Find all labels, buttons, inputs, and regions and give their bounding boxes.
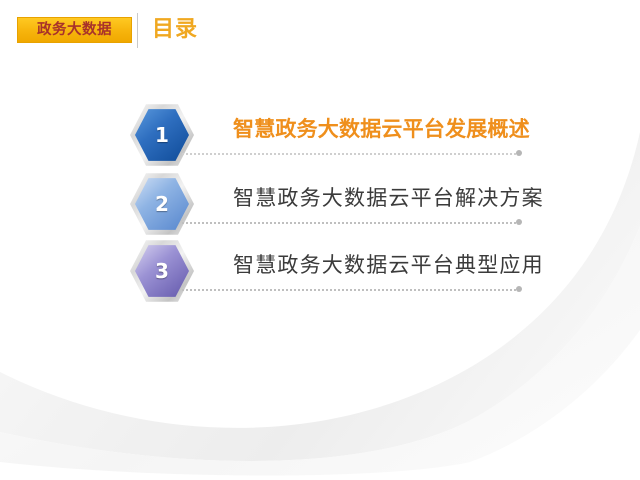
dot-leader [182,289,516,294]
dot-leader [182,222,516,227]
dot-leader-end-dot [516,219,522,225]
table-of-contents: 1 智慧政务大数据云平台发展概述 2 智慧政务大数据云平台解决方案 3 [0,0,640,480]
toc-item-label[interactable]: 智慧政务大数据云平台解决方案 [233,183,544,213]
toc-item-3[interactable]: 3 智慧政务大数据云平台典型应用 [130,239,530,305]
slide-canvas: 政务大数据 目录 1 智慧政务大数据云平台发展概述 2 智慧政务大数据云平台解决… [0,0,640,480]
toc-item-1[interactable]: 1 智慧政务大数据云平台发展概述 [130,103,530,169]
dot-leader-end-dot [516,150,522,156]
dot-leader [182,153,516,158]
dot-leader-end-dot [516,286,522,292]
toc-item-2[interactable]: 2 智慧政务大数据云平台解决方案 [130,172,530,238]
toc-item-label[interactable]: 智慧政务大数据云平台典型应用 [233,250,544,280]
toc-item-label[interactable]: 智慧政务大数据云平台发展概述 [233,114,530,144]
